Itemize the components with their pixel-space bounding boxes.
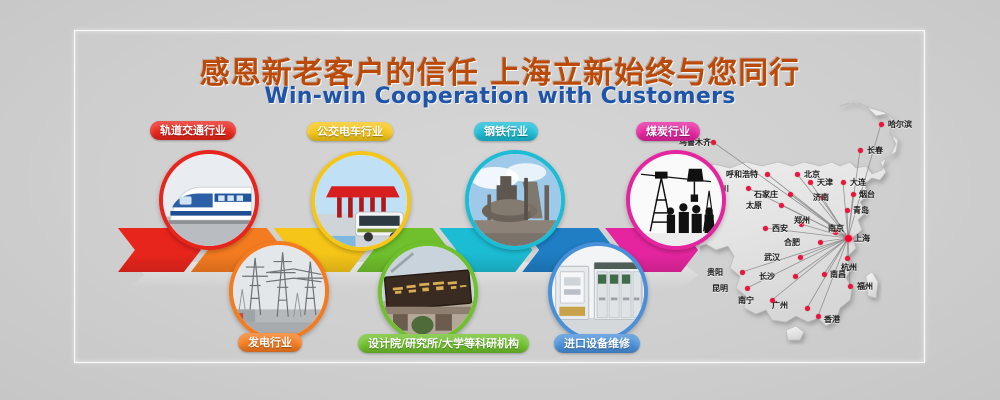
map-city-label: 青岛 [853,205,869,216]
map-city-label: 长春 [867,145,883,156]
map-hub-dot-shanghai [845,235,852,242]
map-city-label: 济南 [813,192,829,203]
industry-bubble-power[interactable] [229,241,329,341]
industry-image-power [233,245,325,337]
map-city-label: 合肥 [784,237,800,248]
map-city-label: 南京 [828,223,844,234]
industry-label-research[interactable]: 设计院/研究所/大学等科研机构 [358,334,529,353]
map-city-dot [788,192,793,197]
industry-image-steel [469,154,561,246]
industry-image-research [382,246,474,338]
map-city-dot [822,272,827,277]
map-city-label: 石家庄 [754,189,778,200]
industry-label-bus[interactable]: 公交电车行业 [307,122,393,141]
map-city-label: 呼和浩特 [726,169,758,180]
map-city-label: 武汉 [764,252,780,263]
china-map: 哈尔滨长春乌鲁木齐呼和浩特北京天津大连银川石家庄济南烟台太原青岛郑州西安南京合肥… [700,100,930,350]
industry-bubble-rail[interactable] [159,150,259,250]
industry-label-rail[interactable]: 轨道交通行业 [150,121,236,140]
map-city-label: 广州 [772,300,788,311]
map-city-dot [808,180,813,185]
map-city-dot [740,270,745,275]
map-city-label: 太原 [746,200,762,211]
industry-bubble-bus[interactable] [311,151,411,251]
map-city-dot [858,148,863,153]
map-city-label: 南昌 [830,269,846,280]
map-city-dot [765,172,770,177]
map-city-label: 天津 [817,177,833,188]
industry-label-import[interactable]: 进口设备维修 [554,334,640,353]
industry-label-steel[interactable]: 钢铁行业 [474,122,538,141]
map-city-dot [841,180,846,185]
industry-image-bus [315,155,407,247]
map-city-dot [816,314,821,319]
industry-bubble-research[interactable] [378,242,478,342]
map-city-label: 哈尔滨 [888,119,912,130]
map-city-dot [763,226,768,231]
map-city-label: 贵阳 [707,267,723,278]
industry-label-coal[interactable]: 煤炭行业 [636,122,700,141]
industry-image-import [552,246,644,338]
map-city-dot [793,274,798,279]
map-city-dot [845,256,850,261]
map-city-dot [798,255,803,260]
map-city-label: 西安 [772,223,788,234]
map-city-label: 南宁 [738,295,754,306]
map-city-dot [711,140,716,145]
banner-stage: 感恩新老客户的信任 上海立新始终与您同行 Win-win Cooperation… [0,0,1000,400]
china-map-shape [700,100,930,350]
map-city-dot [818,240,823,245]
industry-bubble-import[interactable] [548,242,648,342]
map-city-dot [779,203,784,208]
map-city-dot [848,284,853,289]
industry-bubble-coal[interactable] [626,150,726,250]
map-city-label: 香港 [824,314,840,325]
map-city-dot [879,122,884,127]
map-hub-label-shanghai: 上海 [854,233,870,244]
map-city-dot [805,306,810,311]
map-city-label: 郑州 [794,215,810,226]
map-city-label: 长沙 [759,271,775,282]
industry-image-coal [630,154,722,246]
map-city-dot [845,208,850,213]
industry-bubble-steel[interactable] [465,150,565,250]
map-city-label: 大连 [850,177,866,188]
map-city-dot [795,172,800,177]
map-city-dot [746,186,751,191]
industry-label-power[interactable]: 发电行业 [238,333,302,352]
map-city-label: 昆明 [712,283,728,294]
map-city-label: 烟台 [859,189,875,200]
industry-image-rail [163,154,255,246]
map-city-dot [851,192,856,197]
map-city-dot [745,286,750,291]
map-city-label: 福州 [857,281,873,292]
